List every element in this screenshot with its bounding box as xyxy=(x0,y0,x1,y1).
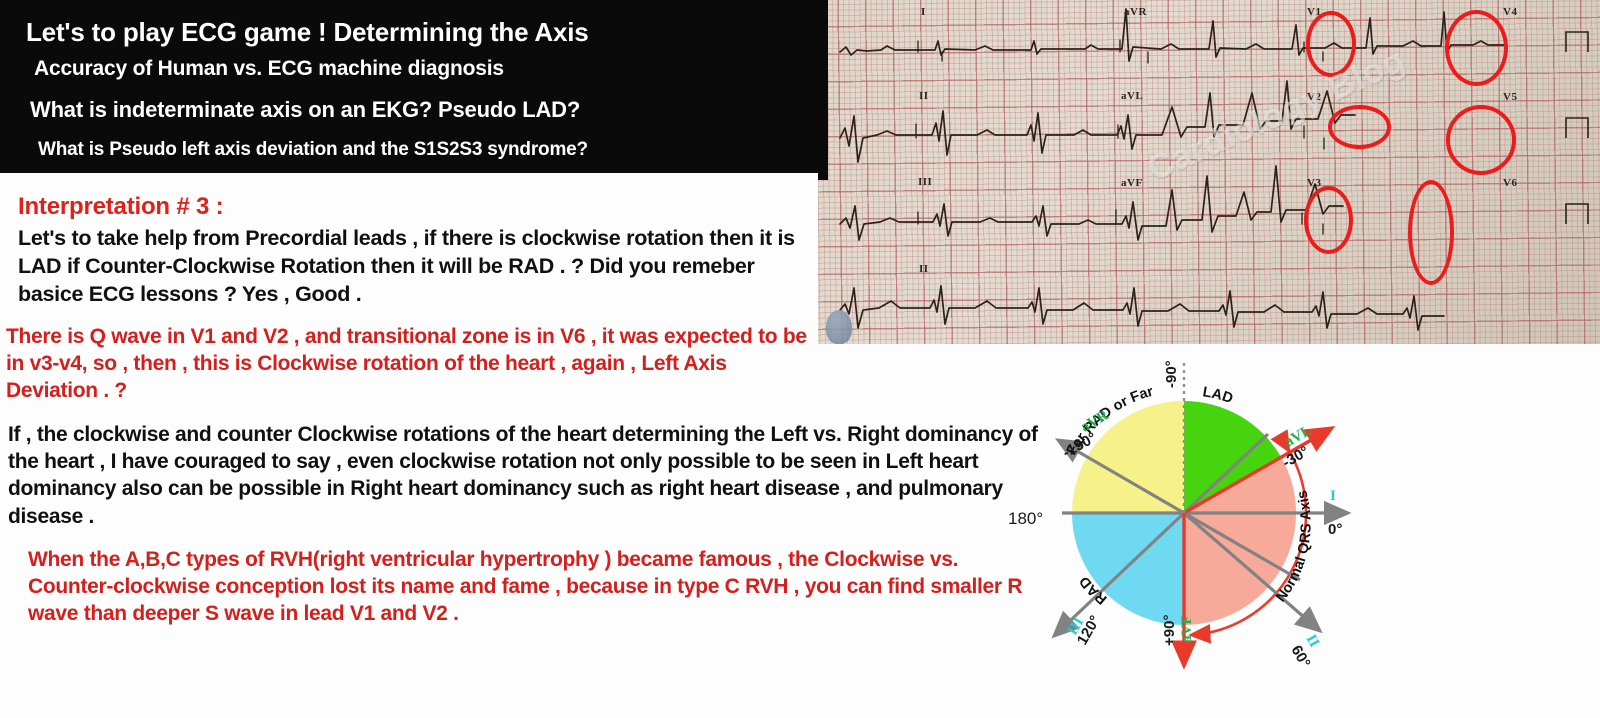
ecg-annotation-circle-v1 xyxy=(1306,11,1356,77)
ecg-lead-label-v5: V5 xyxy=(1503,91,1517,103)
ecg-lead-label-iii: III xyxy=(918,176,932,188)
interpretation-paragraph-4: When the A,B,C types of RVH(right ventri… xyxy=(28,546,1048,628)
ecg-annotation-circle-v5 xyxy=(1446,105,1516,175)
ecg-annotation-circle-v6 xyxy=(1408,180,1454,285)
lead-label-lead-i: I xyxy=(1330,488,1336,504)
ecg-lead-label-ii: II xyxy=(919,263,929,275)
ecg-lead-label-v2: V2 xyxy=(1307,91,1321,103)
title-banner: Let's to play ECG game ! Determining the… xyxy=(0,0,821,173)
ecg-lead-label-i: I xyxy=(921,6,926,18)
title-line-3: What is indeterminate axis on an EKG? Ps… xyxy=(30,97,821,123)
ecg-lead-label-v6: V6 xyxy=(1503,177,1517,189)
degree-label-180: 180° xyxy=(1008,509,1043,528)
title-line-4: What is Pseudo left axis deviation and t… xyxy=(38,139,821,161)
lead-label-avf: aVF xyxy=(1179,616,1195,644)
degree-label-minus-90: -90° xyxy=(1163,360,1180,388)
photo-thumb-artifact xyxy=(826,310,852,344)
ecg-annotation-circle-v2 xyxy=(1328,105,1391,149)
title-line-1: Let's to play ECG game ! Determining the… xyxy=(26,17,821,48)
ecg-annotation-circle-v3 xyxy=(1304,186,1353,254)
title-line-2: Accuracy of Human vs. ECG machine diagno… xyxy=(34,57,821,81)
ecg-lead-label-v4: V4 xyxy=(1503,6,1517,18)
ecg-lead-label-avl: aVL xyxy=(1121,90,1143,102)
ecg-annotation-circle-v4 xyxy=(1445,10,1508,86)
interpretation-paragraph-1: Let's to take help from Precordial leads… xyxy=(18,225,818,309)
ecg-lead-label-ii: II xyxy=(919,90,929,102)
ecg-lead-label-avr: aVR xyxy=(1124,6,1147,18)
ecg-lead-label-avf: aVF xyxy=(1121,177,1143,189)
interpretation-paragraph-3: If , the clockwise and counter Clockwise… xyxy=(8,421,1043,530)
degree-label-plus-90: +90° xyxy=(1161,615,1178,646)
interpretation-paragraph-2: There is Q wave in V1 and V2 , and trans… xyxy=(6,323,818,405)
ecg-strip-photo: IaVRV1V4IIaVLV2V5IIIaVFV3V6II Cardiology… xyxy=(818,0,1600,344)
hexaxial-axis-diagram: LAD Far RAD or Far LAD RAD Normal QRS Ax… xyxy=(1000,348,1440,718)
degree-label-0: 0° xyxy=(1328,521,1342,538)
